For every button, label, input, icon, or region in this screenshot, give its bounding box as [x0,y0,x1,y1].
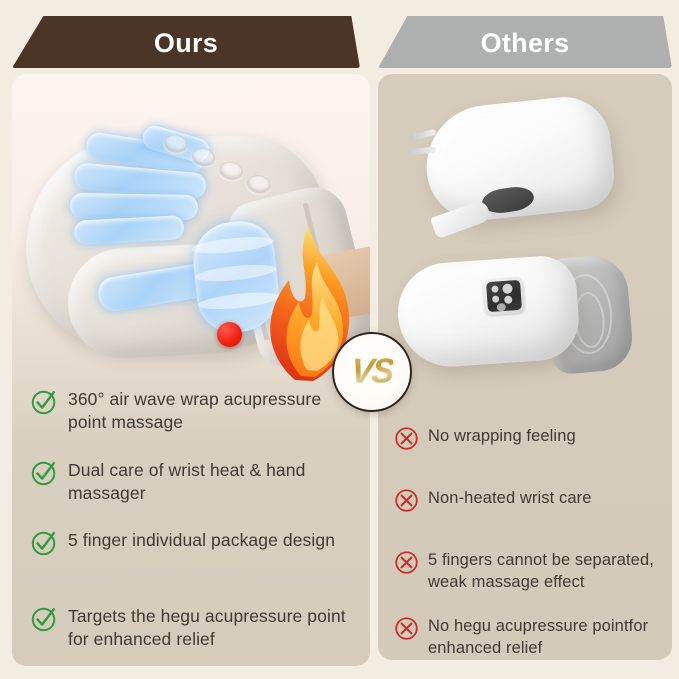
device-2-control-panel [483,277,525,316]
tab-ours-label: Ours [154,28,218,59]
versus-badge: VS [332,332,412,412]
feature-list-ours: 360° air wave wrap acupressure point mas… [12,388,370,652]
feature-item: Targets the hegu acupressure point for e… [30,605,350,652]
feature-text: No hegu acupressure pointfor enhanced re… [428,616,656,660]
competitor-device-1 [426,102,612,216]
green-check-circle-icon [30,459,58,487]
panel-others: No wrapping feeling Non-heated wrist car… [378,74,672,660]
feature-list-others: No wrapping feeling Non-heated wrist car… [378,426,672,660]
tab-others-label: Others [481,28,570,59]
product-image-ours [12,74,370,374]
red-x-circle-icon [394,426,419,451]
comparison-graphic: Ours Others [0,0,679,679]
red-x-circle-icon [394,488,419,513]
red-x-circle-icon [394,616,419,641]
competitor-device-2 [398,256,636,374]
feature-item: Non-heated wrist care [394,488,656,513]
feature-text: 5 fingers cannot be separated, weak mass… [428,550,656,594]
red-x-circle-icon [394,550,419,575]
tab-ours: Ours [12,16,360,68]
feature-item: No wrapping feeling [394,426,656,451]
palm-air-pad [189,218,282,336]
device-2-screen [486,280,522,312]
feature-text: 5 finger individual package design [68,529,335,552]
hegu-acupressure-point-marker [217,322,242,347]
panel-ours: 360° air wave wrap acupressure point mas… [12,74,370,666]
green-check-circle-icon [30,605,58,633]
versus-label: VS [349,352,394,391]
feature-item: No hegu acupressure pointfor enhanced re… [394,616,656,660]
feature-text: No wrapping feeling [428,426,576,448]
tab-others: Others [378,16,672,68]
green-check-circle-icon [30,388,58,416]
feature-item: 5 fingers cannot be separated, weak mass… [394,550,656,594]
feature-item: Dual care of wrist heat & hand massager [30,459,350,506]
finger-chamber [70,193,198,220]
feature-text: Dual care of wrist heat & hand massager [68,459,350,506]
feature-text: 360° air wave wrap acupressure point mas… [68,388,350,435]
feature-text: Non-heated wrist care [428,488,592,510]
product-image-others [378,74,672,404]
feature-item: 360° air wave wrap acupressure point mas… [30,388,350,435]
feature-text: Targets the hegu acupressure point for e… [68,605,350,652]
forearm [307,243,370,322]
green-check-circle-icon [30,529,58,557]
feature-item: 5 finger individual package design [30,529,350,557]
